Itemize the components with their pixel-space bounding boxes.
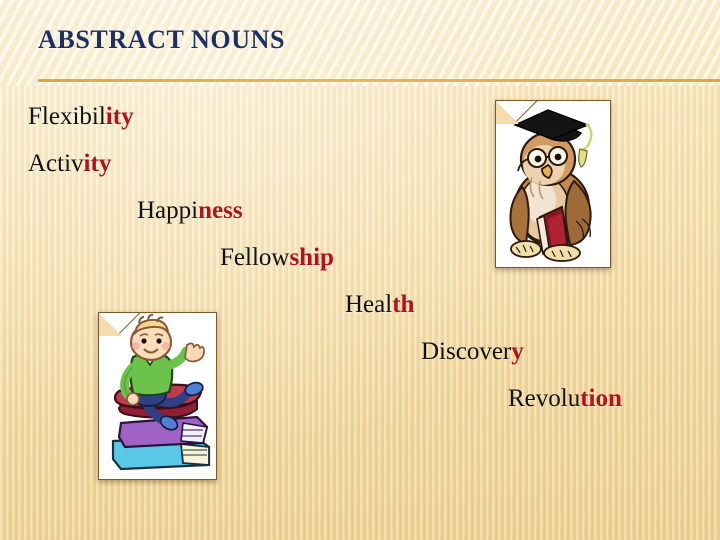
word-suffix: ity [84, 150, 112, 177]
word-suffix: th [392, 291, 414, 318]
word-suffix: tion [580, 385, 622, 412]
list-item: Fellowship [220, 245, 720, 270]
list-item: Health [345, 292, 720, 317]
title-divider [38, 79, 720, 82]
word-stem: Happi [137, 197, 198, 224]
word-suffix: ness [198, 197, 242, 224]
list-item: Activity [28, 151, 720, 176]
word-stem: Heal [345, 291, 392, 318]
word-stem: Discover [421, 338, 511, 365]
word-stem: Revolu [508, 385, 580, 412]
list-item: Discovery [421, 339, 720, 364]
word-stem: Fellow [220, 244, 289, 271]
page-title: ABSTRACT NOUNS [38, 26, 720, 53]
title-block: ABSTRACT NOUNS [38, 26, 720, 53]
word-suffix: y [511, 338, 524, 365]
list-item: Happiness [137, 198, 720, 223]
list-item: Revolution [508, 386, 720, 411]
word-stem: Activ [28, 150, 84, 177]
word-suffix: ship [289, 244, 333, 271]
slide-canvas: ABSTRACT NOUNS Flexibility Activity Happ… [0, 0, 720, 540]
abstract-noun-list: Flexibility Activity Happiness Fellowshi… [0, 96, 720, 411]
word-stem: Flexibil [28, 103, 106, 130]
list-item: Flexibility [28, 104, 720, 129]
word-suffix: ity [106, 103, 134, 130]
